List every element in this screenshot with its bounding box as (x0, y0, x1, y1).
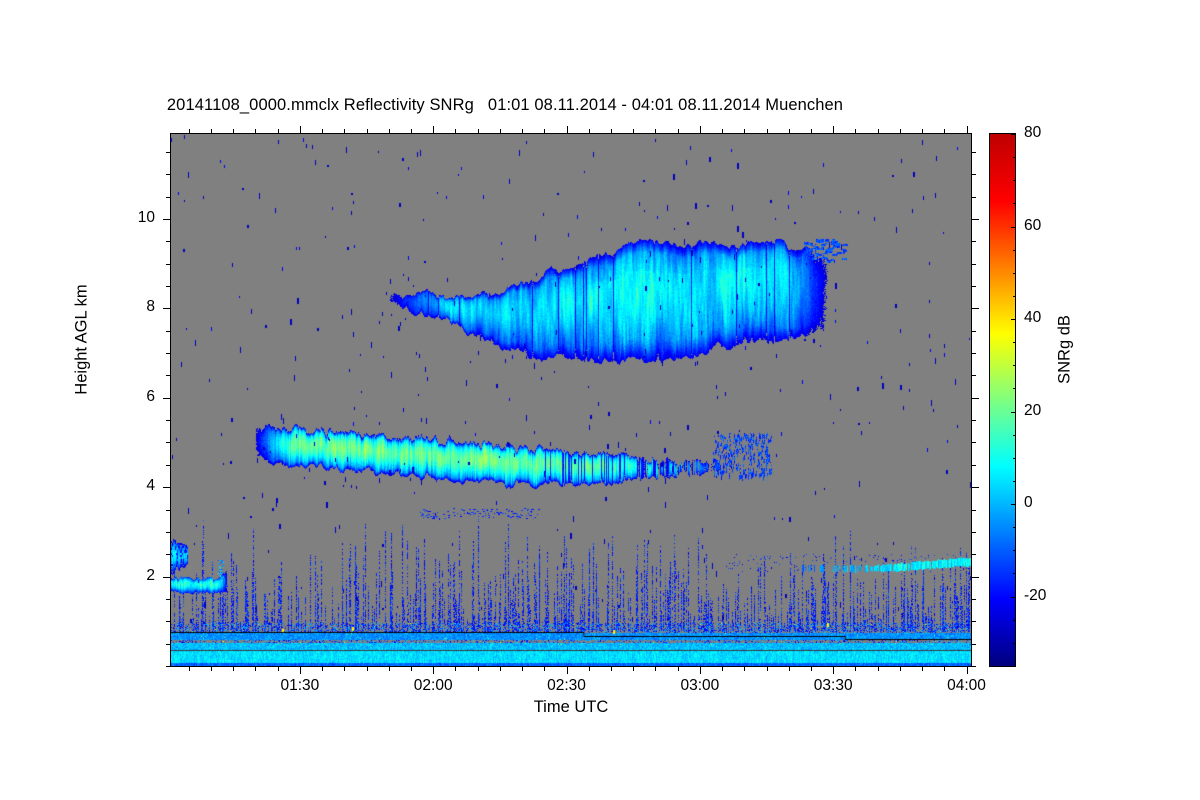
y-tick-right (972, 554, 976, 555)
y-tick-right (972, 353, 976, 354)
x-tick (855, 667, 856, 671)
y-tick (166, 353, 170, 354)
x-tick (322, 667, 323, 671)
y-tick (166, 197, 170, 198)
y-tick (166, 264, 170, 265)
y-tick-right (972, 644, 976, 645)
x-tick (211, 667, 212, 671)
y-ticklabel: 10 (100, 209, 155, 227)
x-tick-top (789, 129, 790, 133)
y-tick (163, 398, 170, 399)
x-tick-top (233, 129, 234, 133)
colorbar-tick (1013, 180, 1016, 181)
colorbar-tick (1013, 250, 1016, 251)
x-tick-top (655, 129, 656, 133)
x-tick (344, 667, 345, 671)
x-tick (722, 667, 723, 671)
x-tick (833, 667, 834, 674)
x-tick (544, 667, 545, 671)
colorbar-tick (1013, 573, 1016, 574)
x-tick (233, 667, 234, 671)
y-tick-right (972, 197, 976, 198)
y-ticklabel: 2 (100, 567, 155, 585)
y-tick (166, 532, 170, 533)
colorbar-tick (1013, 342, 1016, 343)
colorbar-ticklabel: 0 (1024, 494, 1033, 512)
x-tick-top (744, 129, 745, 133)
colorbar-tick (1013, 550, 1016, 551)
y-tick-right (972, 286, 976, 287)
x-tick (455, 667, 456, 671)
y-tick-right (972, 264, 976, 265)
x-tick-top (811, 129, 812, 133)
x-tick-top (278, 129, 279, 133)
x-tick-top (633, 129, 634, 133)
y-tick (163, 219, 170, 220)
x-tick (389, 667, 390, 671)
x-tick (633, 667, 634, 671)
colorbar-tick (1013, 157, 1016, 158)
x-tick (522, 667, 523, 671)
y-tick-right (972, 577, 979, 578)
y-tick-right (972, 442, 976, 443)
colorbar[interactable] (989, 133, 1016, 667)
x-tick-top (900, 129, 901, 133)
y-tick-right (972, 152, 976, 153)
x-ticklabel: 01:30 (255, 677, 345, 695)
x-tick-top (300, 126, 301, 133)
colorbar-tick (1013, 458, 1016, 459)
y-tick-right (972, 375, 976, 376)
y-tick (166, 510, 170, 511)
page-title: 20141108_0000.mmclx Reflectivity SNRg 01… (0, 96, 1010, 115)
x-tick (278, 667, 279, 671)
x-tick-top (322, 129, 323, 133)
x-tick-top (189, 129, 190, 133)
y-tick (166, 621, 170, 622)
x-tick-top (411, 129, 412, 133)
colorbar-tick (1013, 296, 1016, 297)
x-tick-top (833, 126, 834, 133)
y-tick (166, 174, 170, 175)
y-tick (166, 286, 170, 287)
x-tick (678, 667, 679, 671)
x-tick-top (211, 129, 212, 133)
x-tick (500, 667, 501, 671)
y-tick (163, 487, 170, 488)
colorbar-ticklabel: -20 (1024, 587, 1046, 605)
colorbar-tick (1011, 597, 1016, 598)
x-ticklabel: 03:00 (655, 677, 745, 695)
y-tick (163, 308, 170, 309)
x-ticklabel: 02:30 (522, 677, 612, 695)
y-tick-right (972, 487, 979, 488)
x-axis-title: Time UTC (170, 698, 972, 717)
x-tick (700, 667, 701, 674)
y-ticklabel: 6 (100, 388, 155, 406)
x-tick-top (389, 129, 390, 133)
x-ticklabel: 03:30 (788, 677, 878, 695)
y-ticklabel: 4 (100, 477, 155, 495)
x-tick (189, 667, 190, 671)
colorbar-tick (1013, 527, 1016, 528)
x-tick-top (344, 129, 345, 133)
x-tick-top (878, 129, 879, 133)
x-tick (900, 667, 901, 671)
x-tick-top (855, 129, 856, 133)
colorbar-tick (1011, 134, 1016, 135)
y-tick-right (972, 621, 976, 622)
colorbar-gradient (990, 134, 1015, 666)
y-tick-right (972, 465, 976, 466)
x-tick-top (922, 129, 923, 133)
x-tick (567, 667, 568, 674)
colorbar-tick (1013, 620, 1016, 621)
y-tick (166, 644, 170, 645)
x-ticklabel: 02:00 (388, 677, 478, 695)
x-tick-top (611, 129, 612, 133)
x-tick-top (700, 126, 701, 133)
x-tick (655, 667, 656, 671)
x-tick (478, 667, 479, 671)
reflectivity-heatmap (171, 134, 971, 666)
colorbar-ticklabel: 60 (1024, 217, 1041, 235)
y-tick (166, 599, 170, 600)
x-tick (367, 667, 368, 671)
x-tick-top (522, 129, 523, 133)
y-tick-right (972, 666, 976, 667)
y-tick-right (972, 174, 976, 175)
y-tick (166, 152, 170, 153)
x-tick-top (722, 129, 723, 133)
x-tick-top (455, 129, 456, 133)
y-tick-right (972, 599, 976, 600)
colorbar-ticklabel: 80 (1024, 124, 1041, 142)
y-tick (166, 331, 170, 332)
x-tick (255, 667, 256, 671)
y-tick (166, 375, 170, 376)
x-tick-top (544, 129, 545, 133)
colorbar-tick (1013, 365, 1016, 366)
y-tick (163, 577, 170, 578)
x-tick-top (967, 126, 968, 133)
x-tick (922, 667, 923, 671)
x-tick (967, 667, 968, 674)
y-tick (166, 666, 170, 667)
x-ticklabel: 04:00 (922, 677, 1012, 695)
x-tick (611, 667, 612, 671)
x-tick (589, 667, 590, 671)
colorbar-tick (1013, 203, 1016, 204)
colorbar-tick (1013, 273, 1016, 274)
x-tick-top (500, 129, 501, 133)
colorbar-tick (1011, 412, 1016, 413)
x-tick (811, 667, 812, 671)
y-tick (166, 241, 170, 242)
figure-canvas: 20141108_0000.mmclx Reflectivity SNRg 01… (0, 0, 1200, 800)
x-tick (767, 667, 768, 671)
colorbar-tick (1011, 504, 1016, 505)
x-tick-top (589, 129, 590, 133)
x-tick-top (944, 129, 945, 133)
y-tick-right (972, 510, 976, 511)
y-tick-right (972, 241, 976, 242)
colorbar-ticklabel: 20 (1024, 402, 1041, 420)
y-tick (166, 554, 170, 555)
colorbar-tick (1013, 643, 1016, 644)
y-tick-right (972, 308, 979, 309)
x-tick-top (255, 129, 256, 133)
colorbar-tick (1011, 227, 1016, 228)
colorbar-tick (1013, 435, 1016, 436)
x-tick (433, 667, 434, 674)
y-tick-right (972, 331, 976, 332)
y-tick (166, 465, 170, 466)
y-tick (166, 442, 170, 443)
x-tick-top (767, 129, 768, 133)
x-tick-top (478, 129, 479, 133)
x-tick (944, 667, 945, 671)
colorbar-ticklabel: 40 (1024, 309, 1041, 327)
x-tick-top (678, 129, 679, 133)
y-ticklabel: 8 (100, 298, 155, 316)
y-tick-right (972, 532, 976, 533)
colorbar-tick (1011, 319, 1016, 320)
y-tick-right (972, 420, 976, 421)
plot-area[interactable] (170, 133, 972, 667)
x-tick-top (567, 126, 568, 133)
colorbar-tick (1013, 666, 1016, 667)
y-tick (166, 420, 170, 421)
colorbar-title: SNRg dB (1056, 270, 1075, 430)
y-tick-right (972, 219, 979, 220)
x-tick-top (367, 129, 368, 133)
x-tick (789, 667, 790, 671)
x-tick (300, 667, 301, 674)
x-tick (878, 667, 879, 671)
y-tick-right (972, 398, 979, 399)
x-tick (411, 667, 412, 671)
x-tick (744, 667, 745, 671)
y-axis-title: Height AGL km (73, 240, 92, 440)
colorbar-tick (1013, 481, 1016, 482)
colorbar-tick (1013, 388, 1016, 389)
x-tick-top (433, 126, 434, 133)
